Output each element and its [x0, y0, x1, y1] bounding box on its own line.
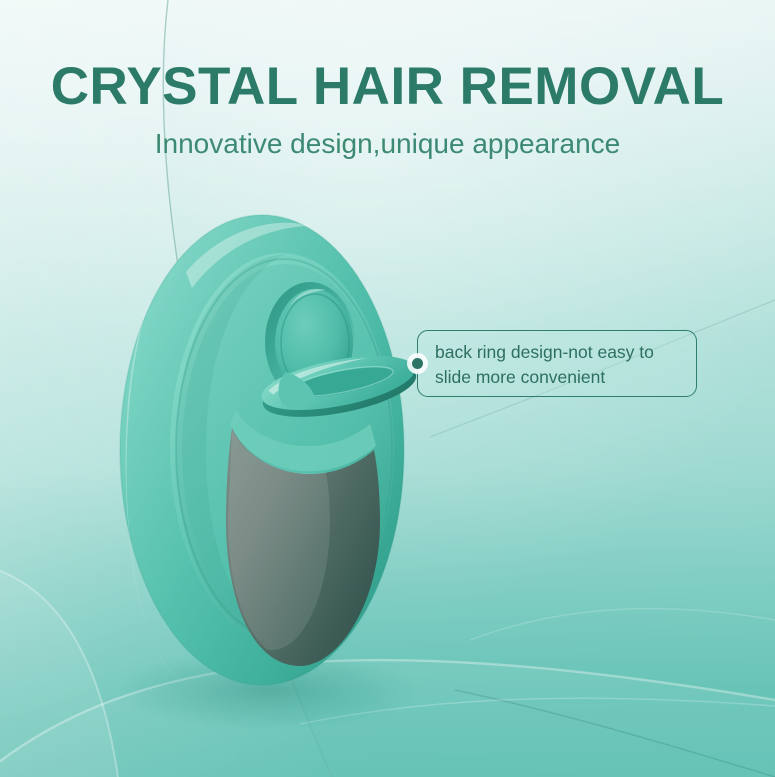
callout-box[interactable]: back ring design-not easy to slide more …	[417, 330, 697, 397]
callout-text: back ring design-not easy to slide more …	[435, 340, 685, 390]
page-title: CRYSTAL HAIR REMOVAL	[0, 58, 775, 116]
product-poster: CRYSTAL HAIR REMOVAL Innovative design,u…	[0, 0, 775, 777]
page-subtitle: Innovative design,unique appearance	[0, 128, 775, 160]
heading-block: CRYSTAL HAIR REMOVAL Innovative design,u…	[0, 58, 775, 160]
callout-anchor-dot[interactable]	[407, 353, 428, 374]
